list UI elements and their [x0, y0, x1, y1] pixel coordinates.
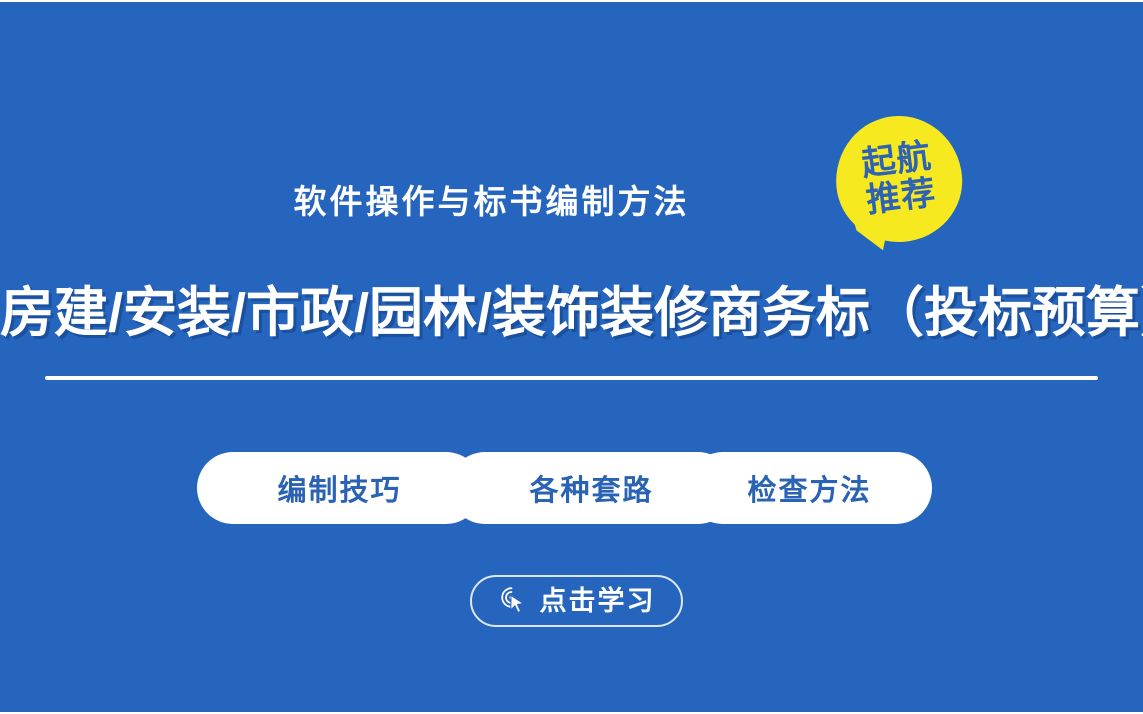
- recommendation-badge: 起航 推荐: [836, 116, 962, 242]
- divider: [45, 376, 1098, 380]
- feature-pill-compile-skills[interactable]: 编制技巧: [197, 452, 482, 524]
- click-to-learn-button[interactable]: 点击学习: [470, 575, 683, 627]
- page-title: 房建/安装/市政/园林/装饰装修商务标（投标预算）: [0, 286, 1143, 340]
- click-cursor-icon: [498, 584, 532, 618]
- badge-line-2: 推荐: [864, 176, 938, 219]
- poster-subtitle: 软件操作与标书编制方法: [0, 185, 1143, 218]
- feature-pill-various-routines[interactable]: 各种套路: [449, 452, 734, 524]
- click-to-learn-label: 点击学习: [540, 588, 656, 615]
- feature-pill-row: 编制技巧 各种套路 检查方法: [197, 452, 932, 524]
- promo-poster: 软件操作与标书编制方法 起航 推荐 房建/安装/市政/园林/装饰装修商务标（投标…: [0, 0, 1143, 714]
- badge-text: 起航 推荐: [829, 109, 969, 249]
